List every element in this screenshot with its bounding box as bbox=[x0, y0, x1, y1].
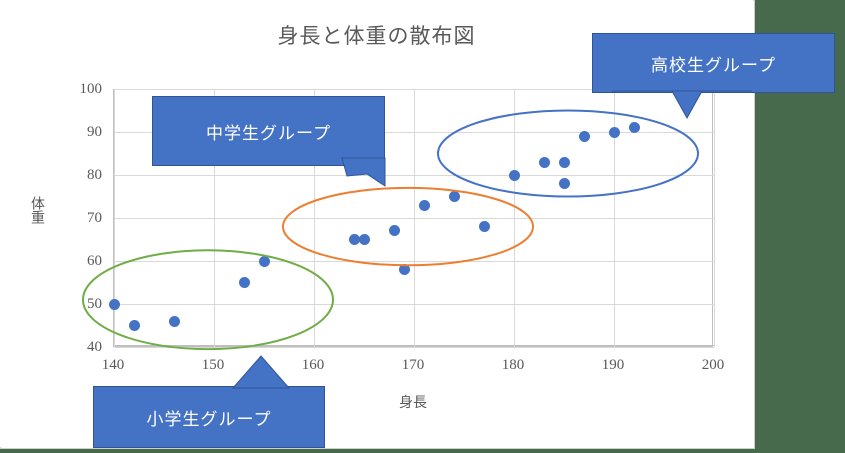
callout-highschool-group[interactable]: 高校生グループ bbox=[592, 33, 835, 93]
slide-canvas: 身長と体重の散布図 100 90 80 70 60 50 40 140 150 … bbox=[0, 0, 845, 453]
callout-elementary-tail bbox=[93, 354, 333, 434]
callout-elementary-group[interactable]: 小学生グループ bbox=[93, 386, 325, 448]
callout-juniorhigh-tail bbox=[152, 96, 392, 206]
scatter-chart[interactable]: 身長と体重の散布図 100 90 80 70 60 50 40 140 150 … bbox=[0, 0, 753, 447]
callout-juniorhigh-group[interactable]: 中学生グループ bbox=[152, 96, 385, 166]
ellipse-elementary-group bbox=[83, 250, 333, 349]
callout-highschool-tail bbox=[592, 33, 842, 143]
